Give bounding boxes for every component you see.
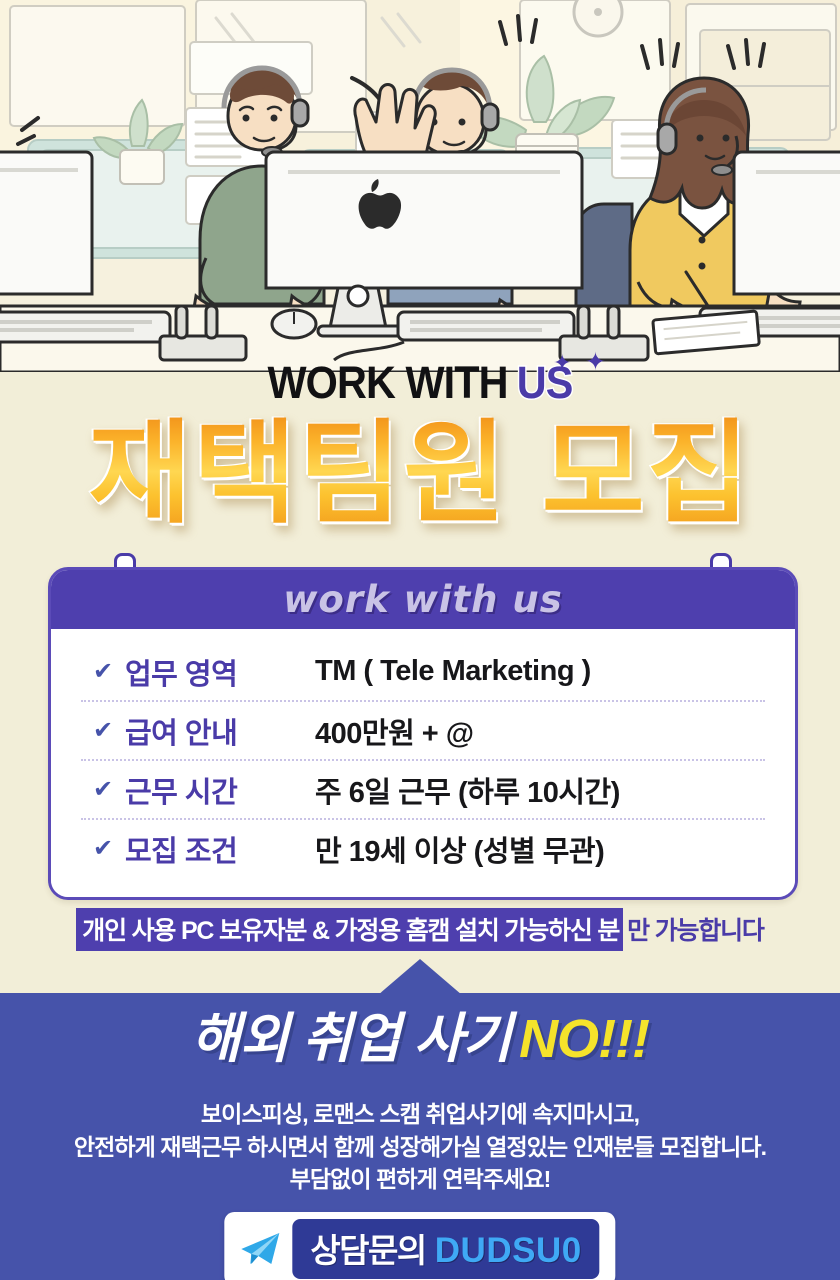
- check-icon: ✔: [81, 657, 125, 686]
- warning-subtext: 보이스피싱, 로맨스 스캠 취업사기에 속지마시고, 안전하게 재택근무 하시면…: [0, 1098, 840, 1196]
- info-card-header: work with us: [51, 570, 795, 629]
- telegram-icon: [238, 1230, 282, 1268]
- info-row-label: 모집 조건: [125, 828, 315, 870]
- info-card: work with us ✔ 업무 영역 TM ( Tele Marketing…: [48, 567, 798, 900]
- hero-illustration: [0, 0, 840, 372]
- info-row-value: 400만원 + @: [315, 710, 765, 752]
- check-icon: ✔: [81, 716, 125, 745]
- info-row-value: 만 19세 이상 (성별 무관): [315, 828, 765, 870]
- contact-label: 상담문의: [310, 1224, 425, 1272]
- requirement-highlight: 개인 사용 PC 보유자분 & 가정용 홈캠 설치 가능하신 분: [76, 908, 623, 951]
- info-card-body: ✔ 업무 영역 TM ( Tele Marketing ) ✔ 급여 안내 40…: [51, 629, 795, 897]
- warning-headline: 해외 취업 사기NO!!!: [0, 1012, 840, 1066]
- eyebrow-title: WORK WITHUS: [34, 360, 807, 405]
- warning-subtext-line2: 안전하게 재택근무 하시면서 함께 성장해가실 열정있는 인재분들 모집합니다.: [0, 1131, 840, 1164]
- info-row-value: 주 6일 근무 (하루 10시간): [315, 769, 765, 811]
- sparkle-icon: ✦: [553, 352, 571, 374]
- info-row-label: 업무 영역: [125, 651, 315, 693]
- info-row: ✔ 모집 조건 만 19세 이상 (성별 무관): [81, 818, 765, 877]
- warning-headline-accent: NO!!!: [519, 1009, 649, 1069]
- info-row: ✔ 급여 안내 400만원 + @: [81, 700, 765, 759]
- warning-headline-main: 해외 취업 사기: [191, 1009, 511, 1069]
- info-row: ✔ 근무 시간 주 6일 근무 (하루 10시간): [81, 759, 765, 818]
- sparkle-icon: ✦: [585, 350, 606, 375]
- info-row-label: 급여 안내: [125, 710, 315, 752]
- info-row-value: TM ( Tele Marketing ): [315, 655, 765, 688]
- title-block: WORK WITHUS: [0, 360, 840, 405]
- requirement-tail: 만 가능합니다: [623, 911, 764, 947]
- check-icon: ✔: [81, 834, 125, 863]
- contact-pill[interactable]: 상담문의 DUDSU0: [292, 1219, 599, 1279]
- warning-subtext-line1: 보이스피싱, 로맨스 스캠 취업사기에 속지마시고,: [0, 1098, 840, 1131]
- page-title: 재택팀원 모집: [0, 415, 840, 533]
- contact-handle: DUDSU0: [435, 1231, 582, 1271]
- info-card-header-text: work with us: [283, 578, 562, 621]
- info-row-label: 근무 시간: [125, 769, 315, 811]
- blue-section-arrow: [378, 959, 462, 995]
- requirement-strip: 개인 사용 PC 보유자분 & 가정용 홈캠 설치 가능하신 분 만 가능합니다: [0, 908, 840, 950]
- warning-subtext-line3: 부담없이 편하게 연락주세요!: [0, 1163, 840, 1196]
- poster-root: WORK WITHUS ✦ ✦ 재택팀원 모집 work with us ✔ 업…: [0, 0, 840, 1280]
- info-row: ✔ 업무 영역 TM ( Tele Marketing ): [81, 643, 765, 700]
- sparkle-group: ✦ ✦: [551, 350, 621, 380]
- check-icon: ✔: [81, 775, 125, 804]
- eyebrow-main-text: WORK WITH: [268, 357, 508, 408]
- contact-button[interactable]: 상담문의 DUDSU0: [224, 1212, 615, 1280]
